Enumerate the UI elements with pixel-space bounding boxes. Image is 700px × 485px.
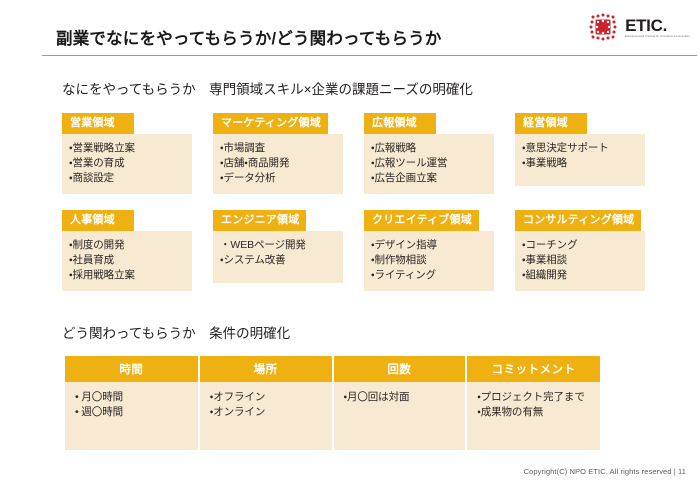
table-cell-commitment: ・プロジェクト完了まで ・成果物の有無: [466, 382, 600, 450]
title-divider: [42, 55, 697, 56]
etic-logo: ETIC. Entrepreneurial Training for Innov…: [587, 11, 690, 44]
domain-card-title: 経営領域: [515, 113, 587, 134]
domain-card: クリエイティブ領域 ・デザイン指導 ・制作物相談 ・ライティング: [364, 210, 494, 291]
domain-card: 営業領域 ・営業戦略立案 ・営業の育成 ・商談設定: [62, 113, 192, 194]
list-item: ・商談設定: [69, 171, 186, 186]
column-header-place: 場所: [199, 356, 333, 382]
domain-card: 人事領域 ・制度の開発 ・社員育成 ・採用戦略立案: [62, 210, 192, 291]
list-item: ・採用戦略立案: [69, 268, 186, 283]
domain-card-body: ・広報戦略 ・広報ツール運営 ・広告企画立案: [364, 134, 494, 194]
domain-card-title: マーケティング領域: [213, 113, 328, 134]
table-cell-frequency: ・月〇回は対面: [333, 382, 467, 450]
domain-card-body: ・WEBページ開発 ・システム改善: [213, 231, 343, 283]
list-item: ・制作物相談: [371, 253, 488, 268]
logo-wordmark: ETIC.: [625, 17, 690, 34]
list-item: ・事業戦略: [522, 156, 639, 171]
etic-dot-matrix-icon: [587, 11, 620, 44]
slide-header: 副業でなにをやってもらうか/どう関わってもらうか: [0, 0, 700, 58]
domain-card-body: ・意思決定サポート ・事業戦略: [515, 134, 645, 186]
list-item: ・データ分析: [220, 171, 337, 186]
domain-card-title: 広報領域: [364, 113, 436, 134]
list-item: ・営業戦略立案: [69, 141, 186, 156]
list-item: • 週〇時間: [75, 405, 192, 420]
domain-card-title: エンジニア領域: [213, 210, 306, 231]
list-item: ・ライティング: [371, 268, 488, 283]
domain-card-title: コンサルティング領域: [515, 210, 641, 231]
domain-card: 経営領域 ・意思決定サポート ・事業戦略: [515, 113, 645, 194]
list-item: ・オンライン: [210, 405, 326, 420]
domain-card-body: ・営業戦略立案 ・営業の育成 ・商談設定: [62, 134, 192, 194]
list-item: ・月〇回は対面: [344, 390, 460, 405]
list-item: • 月〇時間: [75, 390, 192, 405]
logo-tagline: Entrepreneurial Training for Innovative …: [625, 36, 690, 39]
list-item: ・WEBページ開発: [220, 238, 337, 253]
column-header-time: 時間: [65, 356, 199, 382]
domain-card-body: ・市場調査 ・店舗・商品開発 ・データ分析: [213, 134, 343, 194]
table-cell-place: ・オフライン ・オンライン: [199, 382, 333, 450]
table-row: • 月〇時間 • 週〇時間 ・オフライン ・オンライン ・月〇回は対面 ・プロジ…: [65, 382, 600, 450]
domain-card: 広報領域 ・広報戦略 ・広報ツール運営 ・広告企画立案: [364, 113, 494, 194]
domain-card-title: 営業領域: [62, 113, 134, 134]
list-item: ・広報戦略: [371, 141, 488, 156]
list-item: ・システム改善: [220, 253, 337, 268]
list-item: ・プロジェクト完了まで: [477, 390, 594, 405]
domain-card: コンサルティング領域 ・コーチング ・事業相談 ・組織開発: [515, 210, 645, 291]
domain-card: マーケティング領域 ・市場調査 ・店舗・商品開発 ・データ分析: [213, 113, 343, 194]
domain-card-title: クリエイティブ領域: [364, 210, 479, 231]
list-item: ・制度の開発: [69, 238, 186, 253]
list-item: ・組織開発: [522, 268, 639, 283]
list-item: ・事業相談: [522, 253, 639, 268]
list-item: ・広報ツール運営: [371, 156, 488, 171]
column-header-frequency: 回数: [333, 356, 467, 382]
table-cell-time: • 月〇時間 • 週〇時間: [65, 382, 199, 450]
domain-card-title: 人事領域: [62, 210, 134, 231]
list-item: ・広告企画立案: [371, 171, 488, 186]
domain-card-body: ・デザイン指導 ・制作物相談 ・ライティング: [364, 231, 494, 291]
domain-card: エンジニア領域 ・WEBページ開発 ・システム改善: [213, 210, 343, 291]
section-heading-how: どう関わってもらうか 条件の明確化: [62, 322, 290, 342]
column-header-commitment: コミットメント: [466, 356, 600, 382]
domain-card-grid: 営業領域 ・営業戦略立案 ・営業の育成 ・商談設定 マーケティング領域 ・市場調…: [62, 113, 647, 291]
list-item: ・意思決定サポート: [522, 141, 639, 156]
copyright-footer: Copyright(C) NPO ETIC. All rights reserv…: [524, 467, 686, 476]
list-item: ・店舗・商品開発: [220, 156, 337, 171]
section-heading-what: なにをやってもらうか 専門領域スキル×企業の課題ニーズの明確化: [62, 78, 473, 98]
list-item: ・社員育成: [69, 253, 186, 268]
list-item: ・市場調査: [220, 141, 337, 156]
list-item: ・営業の育成: [69, 156, 186, 171]
list-item: ・成果物の有無: [477, 405, 594, 420]
page-title: 副業でなにをやってもらうか/どう関わってもらうか: [56, 25, 442, 49]
conditions-table: 時間 場所 回数 コミットメント • 月〇時間 • 週〇時間 ・オフライン ・オ…: [65, 356, 600, 450]
list-item: ・コーチング: [522, 238, 639, 253]
list-item: ・オフライン: [210, 390, 326, 405]
table-header-row: 時間 場所 回数 コミットメント: [65, 356, 600, 382]
domain-card-body: ・制度の開発 ・社員育成 ・採用戦略立案: [62, 231, 192, 291]
domain-card-body: ・コーチング ・事業相談 ・組織開発: [515, 231, 645, 291]
list-item: ・デザイン指導: [371, 238, 488, 253]
